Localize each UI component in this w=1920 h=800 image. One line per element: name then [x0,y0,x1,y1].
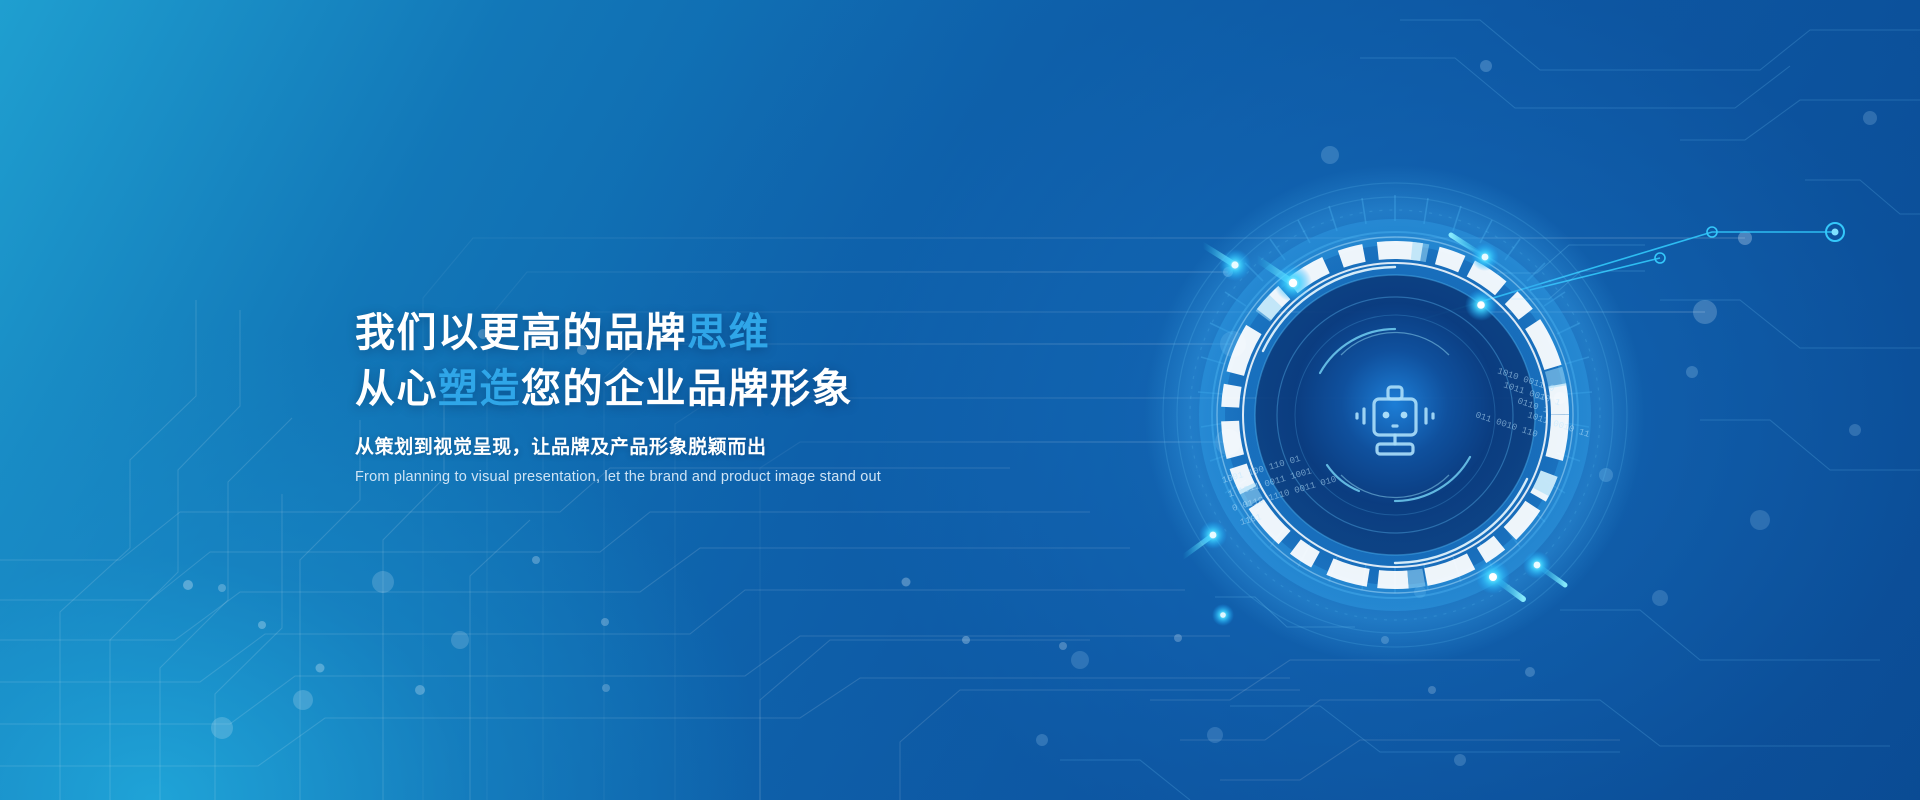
headline-line-1-plain: 我们以更高的品牌 [355,311,687,355]
svg-text:0110 1: 0110 1 [1516,396,1550,416]
hud-tech-circle-graphic: 1010 0011 0 1011 0010 1 0110 1 011 0010 … [1145,165,1645,665]
hero-copy-block: 我们以更高的品牌思维 从心塑造您的企业品牌形象 从策划到视觉呈现，让品牌及产品形… [355,305,1175,488]
subtitle-chinese: 从策划到视觉呈现，让品牌及产品形象脱颖而出 [355,434,1175,462]
robot-icon [1357,387,1433,454]
glow-nodes [1183,235,1565,626]
headline-line-2-accent: 塑造 [438,367,521,411]
headline-line-2: 从心塑造您的企业品牌形象 [355,361,1175,417]
svg-text:1001 100 110 01: 1001 100 110 01 [1221,454,1302,486]
svg-text:1101: 1101 [1239,512,1263,528]
subtitle-english: From planning to visual presentation, le… [355,466,1175,488]
svg-text:1011 0010 11: 1011 0010 11 [1526,410,1591,440]
headline-line-1: 我们以更高的品牌思维 [355,305,1175,361]
svg-text:1011 0010 1: 1011 0010 1 [1502,380,1562,408]
svg-text:1 1011 0011 1001: 1 1011 0011 1001 [1227,466,1313,499]
headline-line-1-accent: 思维 [687,311,770,355]
headline-line-2-plain-prefix: 从心 [355,367,438,411]
svg-text:0 0110 1110 0011 010: 0 0110 1110 0011 010 [1231,474,1338,513]
svg-text:1010 0011 0: 1010 0011 0 [1496,366,1556,394]
hero-banner: 1010 0011 0 1011 0010 1 0110 1 011 0010 … [0,0,1920,800]
headline-line-2-plain-suffix: 您的企业品牌形象 [521,367,853,411]
svg-text:011 0010 110: 011 0010 110 [1474,410,1539,440]
